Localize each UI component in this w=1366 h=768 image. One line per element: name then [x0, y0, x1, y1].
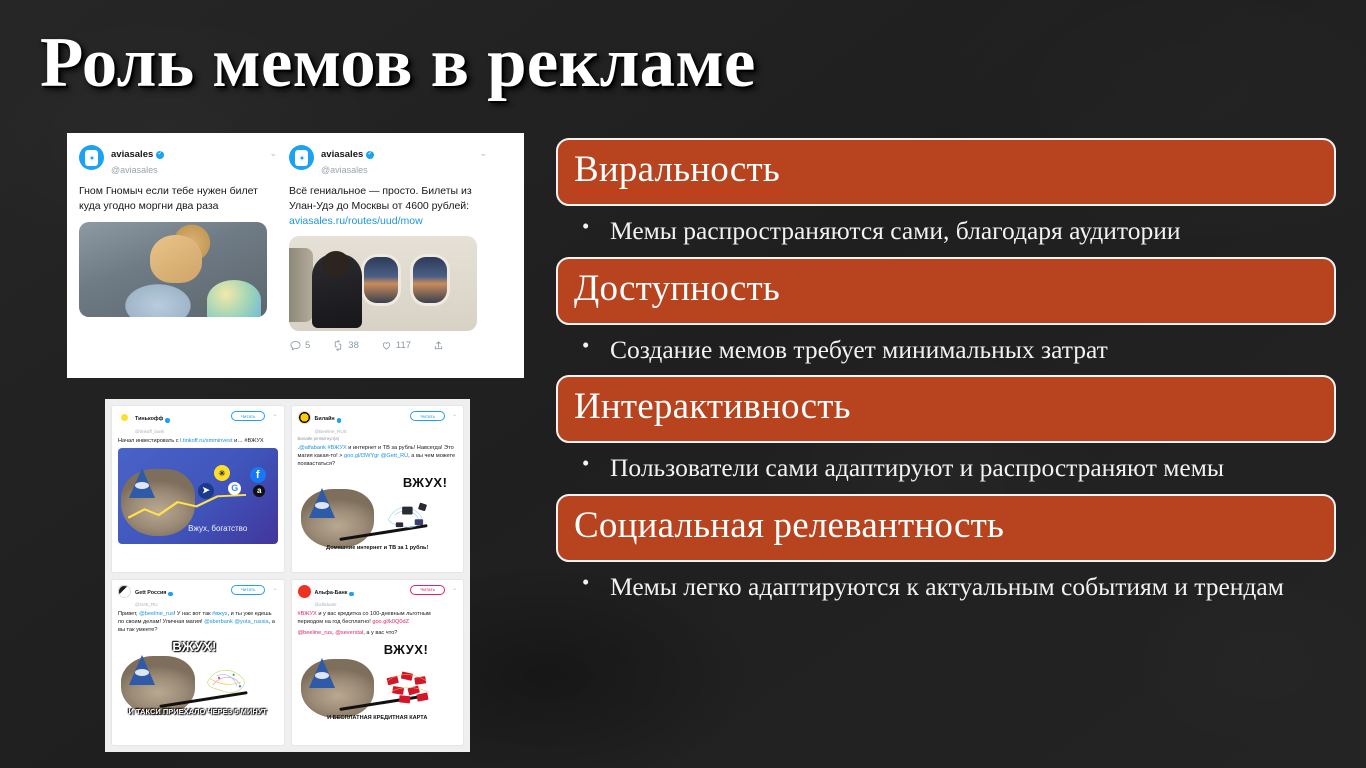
block-header-accessibility[interactable]: Доступность: [556, 257, 1336, 325]
meme-caption: И ТАКСИ ПРИЕХАЛО ЧЕРЕЗ 5 МИНУТ: [118, 707, 278, 716]
compass-icon: ➤: [198, 483, 214, 499]
tweet-handle: @Beeline_RUS: [315, 429, 407, 434]
verified-badge-icon: [349, 592, 354, 597]
wizard-hat-icon: [309, 488, 335, 518]
promo-caption: Вжух, богатство: [188, 524, 247, 533]
tweet-text-body: Привет,: [118, 611, 139, 617]
tweet-photo[interactable]: [79, 222, 267, 317]
list-item: Мемы распространяются сами, благодаря ау…: [578, 215, 1336, 247]
verified-badge-icon: [337, 418, 342, 423]
tweet-photo[interactable]: ✳ f ➤ G a Вжух, богатство: [118, 448, 278, 544]
tweet-text-body: Всё гениальное — просто. Билеты из Улан-…: [289, 185, 472, 212]
vzhuh-cat-shape: [301, 659, 374, 718]
follow-button[interactable]: Читать: [231, 585, 266, 595]
slide-canvas: Роль мемов в рекламе aviasales @aviasale…: [0, 0, 1366, 768]
plane-window-photo: [289, 236, 477, 331]
tweet-link[interactable]: goo.gl/k0Q0dZ: [372, 619, 409, 625]
retweet-stat[interactable]: 38: [332, 340, 359, 351]
tweet-card: Альфа-Банк @alfabank Читать ⌄ #ВЖУХ и у …: [291, 579, 465, 747]
tweet-photo[interactable]: [289, 236, 477, 331]
retweet-count: 38: [348, 340, 359, 351]
tweet-mention[interactable]: @beeline_rus: [139, 611, 174, 617]
sparkle-graphic: [368, 493, 451, 535]
tweet-header: aviasales @aviasales ⌄: [289, 145, 489, 176]
follow-button[interactable]: Читать: [410, 585, 445, 595]
tweet-card: aviasales @aviasales ⌄ Всё гениальное — …: [289, 145, 489, 351]
tweet-author: Gett Россия @Gett_RU: [135, 585, 227, 608]
tweet-author: aviasales @aviasales: [111, 145, 164, 176]
tweet-mention[interactable]: @beeline_rus: [298, 630, 333, 636]
like-stat[interactable]: 117: [381, 340, 411, 351]
tweet-text: Привет, @beeline_rus! У нас вот так #вжу…: [118, 610, 278, 634]
follow-button[interactable]: Читать: [410, 411, 445, 421]
avatar: [79, 145, 104, 170]
list-item: Создание мемов требует минимальных затра…: [578, 334, 1336, 366]
tweet-handle: @Gett_RU: [135, 602, 227, 607]
share-stat[interactable]: [433, 340, 444, 351]
bullet-list: Создание мемов требует минимальных затра…: [556, 325, 1336, 376]
wizard-hat-icon: [129, 655, 155, 685]
content-block: Социальная релевантность Мемы легко адап…: [556, 494, 1336, 613]
tweet-link[interactable]: goo.gl/l3WYgr: [344, 453, 379, 459]
tweet-handle: @aviasales: [111, 165, 164, 175]
tweet-photo[interactable]: ВЖУХ! Домашние интернет и ТВ за 1 рубл: [298, 471, 458, 555]
tweet-author: Альфа-Банк @alfabank: [315, 585, 407, 608]
avatar: [298, 585, 311, 598]
passenger-shape: [312, 254, 362, 328]
tweet-photo[interactable]: ВЖУХ! И ТАКСИ ПРИЕХ: [118, 637, 278, 721]
tweet-text: #ВЖУХ и у вас кредитка со 100-дневным ль…: [298, 610, 458, 626]
tweet-text-tail: и… #ВЖУХ: [233, 438, 264, 444]
wizard-hat-icon: [309, 658, 335, 688]
heart-icon: [381, 340, 392, 351]
chevron-down-icon[interactable]: ⌄: [452, 585, 457, 592]
beeline-vzhuh-meme: ВЖУХ! Домашние интернет и ТВ за 1 рубл: [298, 471, 458, 555]
avatar: [118, 411, 131, 424]
tweet-author-name: Тинькофф: [135, 417, 163, 423]
tweet-author: Тинькофф @tinkoff_bank: [135, 411, 227, 434]
tweet-mention3[interactable]: @yota_russia: [234, 619, 268, 625]
avatar: [298, 411, 311, 424]
alfabank-vzhuh-meme: ВЖУХ!: [298, 640, 458, 724]
tweet-header: Тинькофф @tinkoff_bank Читать ⌄: [118, 411, 278, 434]
tweet-header: aviasales @aviasales ⌄: [79, 145, 279, 176]
tweet-card: Тинькофф @tinkoff_bank Читать ⌄ Начал ин…: [111, 405, 285, 573]
tweet-text: .@alfabank #ВЖУХ и интернет и ТВ за рубл…: [298, 444, 458, 468]
tweet-author-name: Альфа-Банк: [315, 591, 348, 597]
block-header-label: Социальная релевантность: [574, 507, 1004, 546]
meme-word: ВЖУХ!: [384, 642, 429, 657]
verified-badge-icon: [168, 592, 173, 597]
window-shape: [413, 257, 447, 303]
retweet-icon: [332, 340, 344, 351]
tweet-text-tail: , а у вас что?: [363, 630, 397, 636]
bullet-list: Мемы распространяются сами, благодаря ау…: [556, 206, 1336, 257]
avatar: [289, 145, 314, 170]
tweet-mention2[interactable]: @sberbank: [204, 619, 233, 625]
child-globe-photo: [79, 222, 267, 317]
vzhuh-meme-tweets-image: Тинькофф @tinkoff_bank Читать ⌄ Начал ин…: [105, 399, 470, 752]
tweet-text: Начал инвестировать с l.tinkoff.ru/smmin…: [118, 437, 278, 445]
tinkoff-promo-graphic: ✳ f ➤ G a Вжух, богатство: [118, 448, 278, 544]
tweet-card: Gett Россия @Gett_RU Читать ⌄ Привет, @b…: [111, 579, 285, 747]
tweet-text-body: и у вас кредитка со 100-дневным льготным…: [298, 611, 431, 625]
share-icon: [433, 340, 444, 351]
tweet-author-name: Билайн: [315, 417, 335, 423]
chevron-down-icon[interactable]: ⌄: [272, 411, 277, 418]
chevron-down-icon[interactable]: ⌄: [479, 149, 487, 159]
content-block: Виральность Мемы распространяются сами, …: [556, 138, 1336, 257]
brand-icons-group: ✳ f ➤ G a: [182, 465, 271, 503]
tweet-mention2[interactable]: @Gett_RU: [381, 453, 408, 459]
block-header-label: Доступность: [574, 270, 780, 309]
tweet-text-body: Начал инвестировать с: [118, 438, 180, 444]
sparkle-graphic: [188, 659, 271, 701]
tweet-text-mentions: @beeline_rus, @severstal, а у вас что?: [298, 629, 458, 637]
tweet-card: aviasales @aviasales ⌄ Гном Гномыч если …: [79, 145, 279, 351]
chevron-down-icon[interactable]: ⌄: [272, 585, 277, 592]
tinkoff-icon: ✳: [214, 465, 230, 481]
tweet-text: Гном Гномыч если тебе нужен билет куда у…: [79, 184, 279, 214]
list-item: Мемы легко адаптируются к актуальным соб…: [578, 571, 1336, 603]
block-header-virality[interactable]: Виральность: [556, 138, 1336, 206]
tweet-link[interactable]: aviasales.ru/routes/uud/mow: [289, 215, 423, 227]
gift-cards-graphic: [372, 667, 449, 706]
tweet-author: Билайн @Beeline_RUS: [315, 411, 407, 434]
content-column: Виральность Мемы распространяются сами, …: [556, 138, 1336, 612]
reply-icon: [290, 340, 301, 351]
amazon-icon: a: [253, 485, 265, 497]
tweet-author: aviasales @aviasales: [321, 145, 374, 176]
reply-stat[interactable]: 5: [290, 340, 310, 351]
facebook-icon: f: [250, 467, 266, 483]
list-item: Пользователи сами адаптируют и распростр…: [578, 452, 1336, 484]
tweet-link[interactable]: l.tinkoff.ru/smminvest: [180, 438, 232, 444]
block-header-label: Интерактивность: [574, 388, 851, 427]
block-header-interactivity[interactable]: Интерактивность: [556, 375, 1336, 443]
tweet-handle: @aviasales: [321, 165, 374, 175]
tweet-hashtag[interactable]: #вжух: [212, 611, 227, 617]
tweet-hashtag[interactable]: #ВЖУХ: [326, 445, 347, 451]
tweet-text-body2: ! У нас вот так: [174, 611, 212, 617]
avatar: [118, 585, 131, 598]
vzhuh-cat-shape: [301, 489, 374, 548]
verified-badge-icon: [156, 151, 164, 159]
window-shape: [364, 257, 398, 303]
verified-badge-icon: [366, 151, 374, 159]
meme-word: ВЖУХ!: [403, 475, 448, 490]
gett-vzhuh-meme: ВЖУХ! И ТАКСИ ПРИЕХ: [118, 637, 278, 721]
bullet-list: Пользователи сами адаптируют и распростр…: [556, 443, 1336, 494]
follow-button[interactable]: Читать: [231, 411, 266, 421]
page-title: Роль мемов в рекламе: [40, 28, 940, 99]
chevron-down-icon[interactable]: ⌄: [452, 411, 457, 418]
aviasales-tweets-image: aviasales @aviasales ⌄ Гном Гномыч если …: [67, 133, 524, 378]
tweet-hashtag[interactable]: #ВЖУХ: [298, 611, 317, 617]
tweet-card: Билайн @Beeline_RUS Читать ⌄ Билайн ретв…: [291, 405, 465, 573]
meme-caption: И БЕСПЛАТНАЯ КРЕДИТНАЯ КАРТА: [298, 715, 458, 722]
tweet-header: Билайн @Beeline_RUS Читать ⌄: [298, 411, 458, 434]
meme-caption: Домашние интернет и ТВ за 1 рубль!: [298, 545, 458, 552]
tweet-mention2[interactable]: @severstal: [335, 630, 363, 636]
tweet-text: Всё гениальное — просто. Билеты из Улан-…: [289, 184, 489, 229]
tweet-author-name: aviasales: [321, 150, 363, 161]
tweet-photo[interactable]: ВЖУХ!: [298, 640, 458, 724]
content-block: Доступность Создание мемов требует миним…: [556, 257, 1336, 376]
google-icon: G: [228, 482, 241, 495]
retweet-note: Билайн ретвитнул(а): [298, 436, 458, 441]
tweet-mention[interactable]: @alfabank: [299, 445, 326, 451]
tweet-header: Альфа-Банк @alfabank Читать ⌄: [298, 585, 458, 608]
tweet-header: Gett Россия @Gett_RU Читать ⌄: [118, 585, 278, 608]
content-block: Интерактивность Пользователи сами адапти…: [556, 375, 1336, 494]
block-header-social-relevance[interactable]: Социальная релевантность: [556, 494, 1336, 562]
bullet-list: Мемы легко адаптируются к актуальным соб…: [556, 562, 1336, 613]
tweet-stats: 5 38 117: [289, 340, 489, 351]
tweet-author-name: Gett Россия: [135, 591, 166, 597]
chevron-down-icon[interactable]: ⌄: [269, 149, 277, 159]
vzhuh-cat-shape: [121, 656, 194, 715]
reply-count: 5: [305, 340, 310, 351]
meme-word: ВЖУХ!: [172, 639, 217, 654]
tweet-handle: @tinkoff_bank: [135, 429, 227, 434]
block-header-label: Виральность: [574, 151, 780, 190]
tweet-author-name: aviasales: [111, 150, 153, 161]
seat-shape: [289, 248, 313, 322]
tweet-handle: @alfabank: [315, 602, 407, 607]
like-count: 117: [396, 340, 411, 351]
verified-badge-icon: [165, 418, 170, 423]
